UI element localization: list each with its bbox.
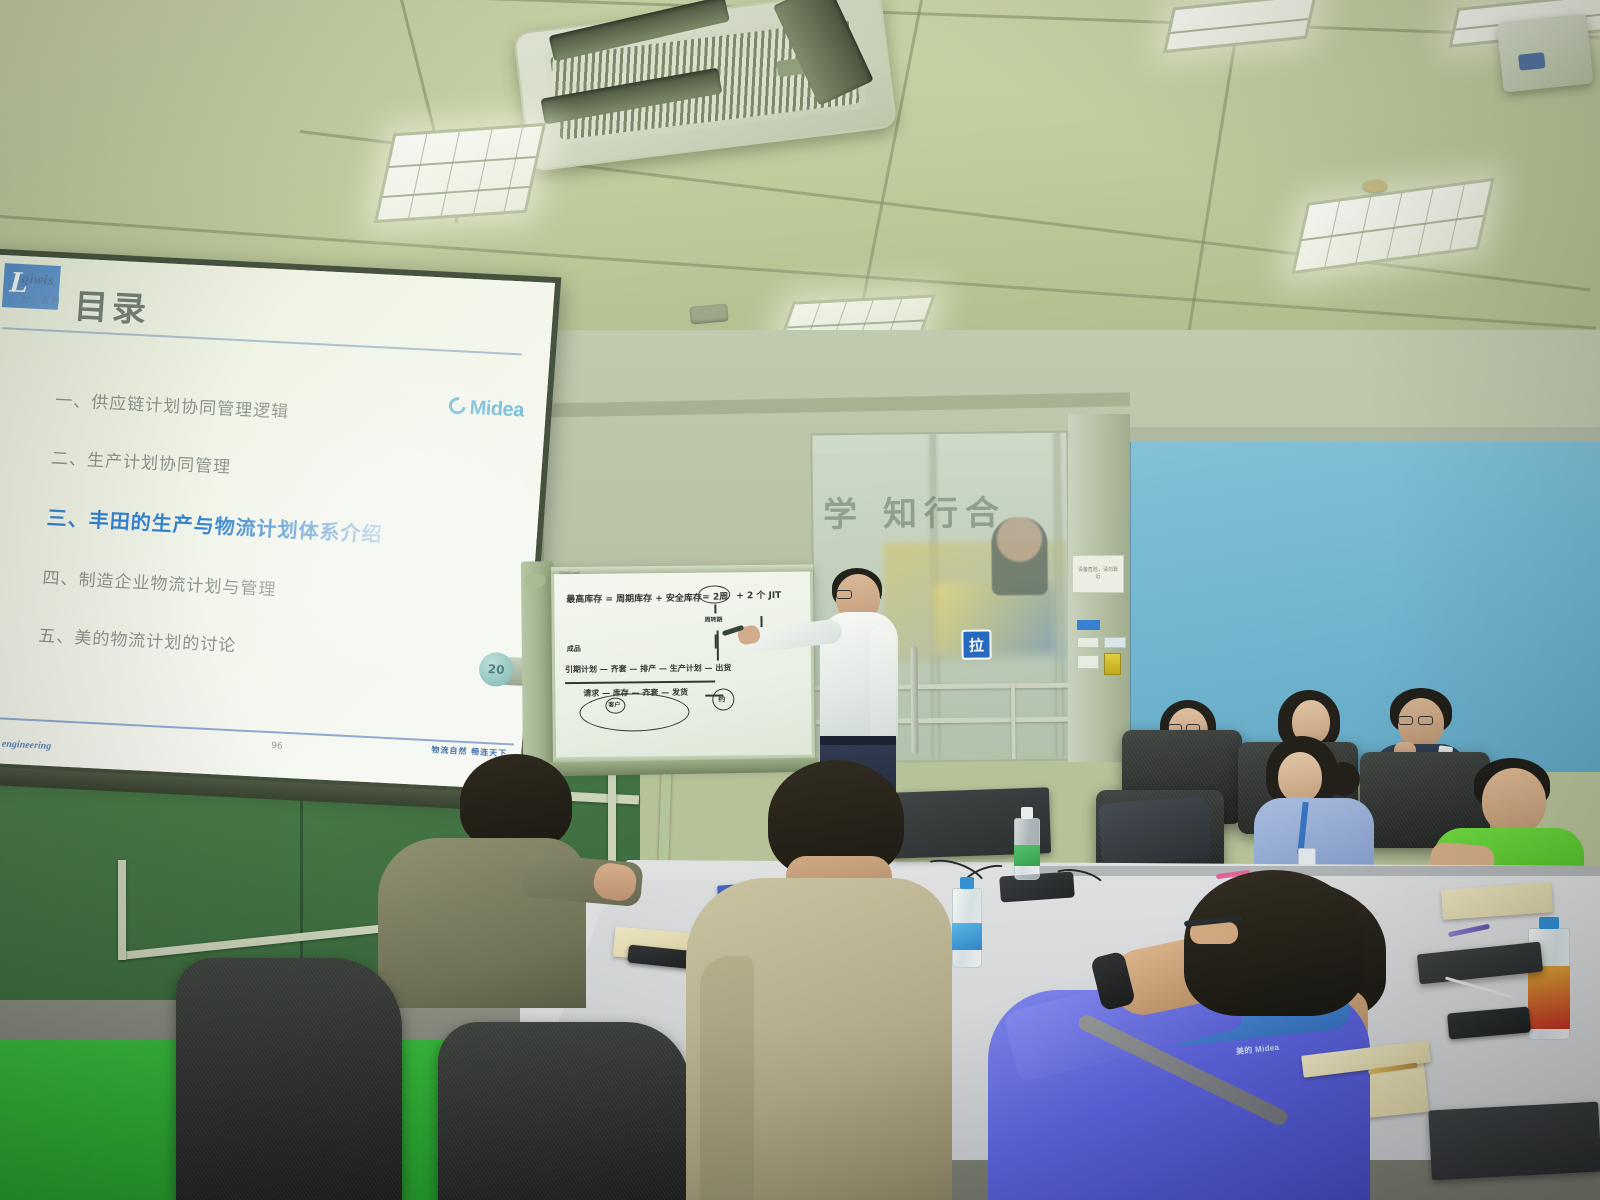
title-divider [2,327,522,355]
table-of-contents: 一、供应链计划协同管理逻辑 二、生产计划协同管理 三、丰田的生产与物流计划体系介… [35,386,526,703]
wb-flow-top: 引期计划 — 齐套 — 排产 — 生产计划 — 出货 [565,662,731,675]
toc-item: 五、美的物流计划的讨论 [38,621,509,670]
label-plate [1104,637,1126,648]
wb-annotation-1: 周转期 [704,614,722,623]
wb-formula-result-2: + 2 个 JIT [736,588,781,601]
safety-notice-sign: 设备危险，请勿靠近 [1072,555,1124,593]
office-chair[interactable] [438,1022,690,1200]
reflected-person [991,517,1048,596]
attendee-olive [372,754,632,1004]
attendee-foreground-head [1184,870,1374,1020]
projection-screen: L giwis 为…咨询 目录 Midea 一、供应链计划协同管理逻辑 二、生产… [0,248,561,796]
slide-title: 目录 [73,279,152,332]
wb-circle-right: 约 [718,694,725,704]
whiteboard-stand [521,561,555,776]
emergency-device-icon[interactable] [1104,653,1121,675]
office-chair[interactable] [176,958,402,1200]
equipment-label [1077,620,1100,630]
water-bottle-icon[interactable] [1014,818,1040,880]
footer-divider [0,716,514,746]
wb-label-left: 成品 [567,644,581,654]
wb-formula-main: 最高库存 = 周期库存 + 安全库存 [566,591,702,605]
head [1482,768,1546,834]
glasses-icon [1398,716,1413,725]
ponytail [1326,762,1360,796]
wb-circle-left: 客户 [608,700,620,709]
logo-chinese-subtitle: 为…咨询 [20,292,61,307]
pull-door-sign: 拉 [961,629,991,659]
laptop-icon[interactable] [1428,1102,1600,1181]
light-switch[interactable] [1077,655,1099,669]
presentation-slide: L giwis 为…咨询 目录 Midea 一、供应链计划协同管理逻辑 二、生产… [0,254,555,789]
ceiling-speaker-icon [689,303,728,324]
whiteboard-brand-label: Whiteboard [559,570,580,575]
toc-item: 一、供应链计划协同管理逻辑 [55,386,526,435]
backpack [1098,796,1212,866]
light-switch[interactable] [1077,637,1099,648]
sleeve [700,956,754,1200]
head [1278,752,1322,802]
attendee-khaki [686,760,976,1200]
whiteboard-knob-icon[interactable] [524,573,546,587]
glasses-icon [836,590,852,599]
hair [460,754,572,850]
slide-footer-brand: Logistic engineering [0,737,52,752]
photo-scene: 学 知行合 拉 设备危险，请勿靠近 L giwis 为…咨询 [0,0,1600,1200]
toc-item: 四、制造企业物流计划与管理 [42,563,513,612]
presenter-arm [870,626,896,744]
partition-post [118,860,126,960]
slide-page-number: 96 [271,741,283,752]
whiteboard: 最高库存 = 周期库存 + 安全库存 = 2周 + 2 个 JIT 周转期 缓冲… [521,558,823,776]
ceiling-light [374,123,546,223]
smoke-detector-icon [1363,180,1387,192]
toc-item-active: 三、丰田的生产与物流计划体系介绍 [46,502,518,555]
whiteboard-surface: 最高库存 = 周期库存 + 安全库存 = 2周 + 2 个 JIT 周转期 缓冲… [551,565,815,768]
projector [1497,13,1594,92]
toc-item: 二、生产计划协同管理 [50,444,521,493]
glasses-icon [1418,716,1433,725]
glass-wall-text: 学 知行合 [823,485,1006,536]
presenter-belt [820,736,896,745]
logo-wordmark: giwis [21,272,54,290]
projector-lens-icon [1518,52,1546,71]
